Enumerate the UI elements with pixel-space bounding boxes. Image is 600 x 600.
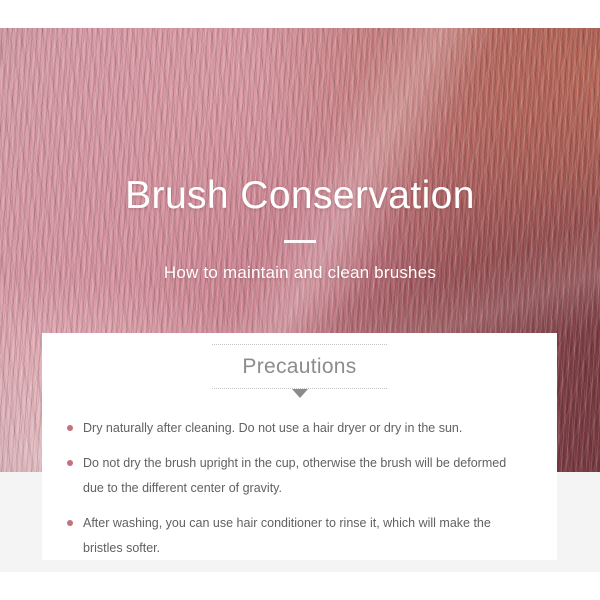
page-title: Brush Conservation [0,28,600,215]
precautions-list: Dry naturally after cleaning. Do not use… [42,390,557,560]
product-description-page: Brush Conservation How to maintain and c… [0,0,600,600]
caret-down-icon [292,389,308,398]
title-divider [284,240,316,243]
list-item: After washing, you can use hair conditio… [66,511,525,560]
section-header: Precautions [42,333,557,390]
page-bottom-spacer [0,572,600,600]
list-item: Do not dry the brush upright in the cup,… [66,451,525,500]
list-item: Dry naturally after cleaning. Do not use… [66,416,525,440]
dotted-rule-top [212,344,387,346]
page-subtitle: How to maintain and clean brushes [0,243,600,283]
precautions-card: Precautions Dry naturally after cleaning… [42,333,557,560]
dotted-rule-bottom [212,388,387,390]
hero-text-block: Brush Conservation How to maintain and c… [0,28,600,283]
page-top-spacer [0,0,600,28]
section-title: Precautions [42,346,557,388]
